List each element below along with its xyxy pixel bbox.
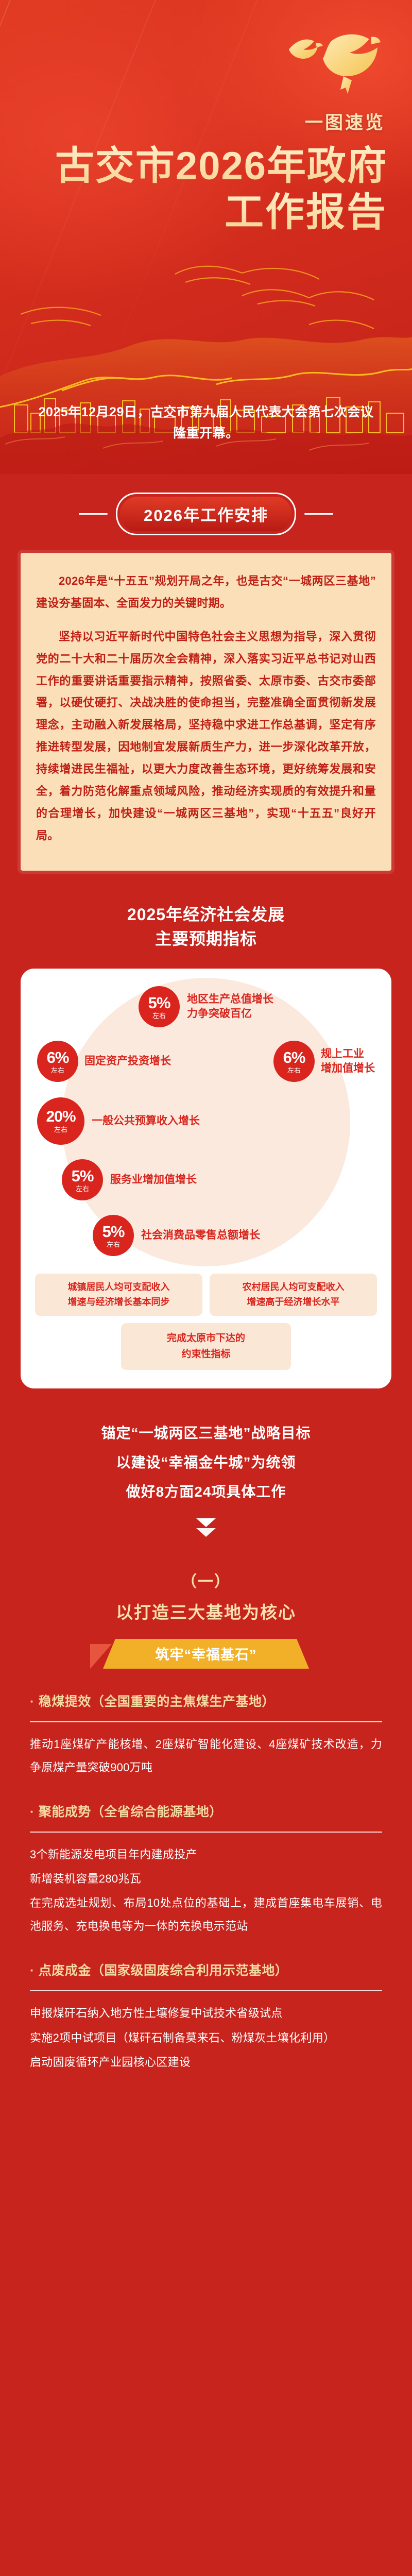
indicator-label: 服务业增加值增长 [110, 1173, 197, 1187]
indicator-item-investment: 6% 左右 固定资产投资增长 [37, 1041, 171, 1082]
block-body: 申报煤矸石纳入地方性土壤修复中试技术省级试点 实施2项中试项目（煤矸石制备莫来石… [30, 2002, 382, 2073]
binding-target-line2: 约束性指标 [126, 1346, 286, 1362]
hero-title-line1: 古交市2026年政府 [27, 145, 387, 188]
indicator-suffix: 左右 [54, 1126, 67, 1133]
indicator-item-gdp: 5% 左右 地区生产总值增长 力争突破百亿 [35, 986, 377, 1027]
indicator-list: 5% 左右 地区生产总值增长 力争突破百亿 6% 左右 固定资产投资增长 [35, 986, 377, 1256]
indicator-value: 6% [47, 1049, 69, 1065]
hero-banner: 一图速览 古交市2026年政府 工作报告 [0, 0, 412, 474]
rule-right [304, 513, 333, 515]
indicator-label-line2: 力争突破百亿 [187, 1007, 273, 1021]
hero-date: 2025年12月29日，古交市第九届人民代表大会第七次会议隆重开幕。 [0, 402, 412, 445]
indicator-badge: 6% 左右 [273, 1041, 315, 1082]
indicators-heading: 2025年经济社会发展 主要预期指标 [0, 903, 412, 952]
indicator-label-line1: 地区生产总值增长 [187, 992, 273, 1007]
indicator-item-budget: 20% 左右 一般公共预算收入增长 [35, 1097, 377, 1145]
block-heading: · 稳煤提效（全国重要的主焦煤生产基地） [30, 1691, 382, 1710]
indicator-value: 6% [283, 1049, 305, 1065]
indicator-suffix: 左右 [51, 1067, 64, 1074]
chevron-down-icon [196, 1518, 216, 1527]
block-heading: · 聚能成势（全省综合能源基地） [30, 1802, 382, 1820]
content-block-coal: · 稳煤提效（全国重要的主焦煤生产基地） 推动1座煤矿产能核增、2座煤矿智能化建… [30, 1691, 382, 1779]
indicator-label: 规上工业 增加值增长 [321, 1047, 375, 1076]
binding-target-box: 完成太原市下达的 约束性指标 [121, 1323, 291, 1370]
income-boxes: 城镇居民人均可支配收入 增速与经济增长基本同步 农村居民人均可支配收入 增速高于… [35, 1274, 377, 1316]
strategy-line2: 以建设“幸福金牛城”为统领 [0, 1448, 412, 1477]
indicator-badge: 5% 左右 [139, 986, 180, 1027]
indicator-row-pair: 6% 左右 固定资产投资增长 6% 左右 规上工业 增加值增长 [35, 1041, 377, 1082]
part-title: 以打造三大基地为核心 [0, 1599, 412, 1623]
hero-title-line2: 工作报告 [27, 192, 387, 234]
overview-paragraph-2: 坚持以习近平新时代中国特色社会主义思想为指导，深入贯彻党的二十大和二十届历次全会… [36, 626, 376, 847]
block-body: 3个新能源发电项目年内建成投产 新增装机容量280兆瓦 在完成选址规划、布局10… [30, 1843, 382, 1938]
divider [30, 1721, 382, 1722]
indicator-item-services: 5% 左右 服务业增加值增长 [35, 1159, 377, 1200]
indicator-badge: 5% 左右 [93, 1215, 134, 1256]
indicator-label: 地区生产总值增长 力争突破百亿 [187, 992, 273, 1022]
indicator-suffix: 左右 [76, 1185, 89, 1192]
dove-icon [286, 32, 384, 99]
hero-eyebrow: 一图速览 [305, 108, 385, 134]
block-body-line: 启动固废循环产业园核心区建设 [30, 2050, 382, 2074]
indicator-suffix: 左右 [107, 1241, 120, 1248]
ribbon-banner: 筑牢“幸福基石” [0, 1639, 412, 1669]
rule-left [79, 513, 108, 515]
overview-paragraph-1: 2026年是“十五五”规划开局之年，也是古交“一城两区三基地”建设夯基固本、全面… [36, 570, 376, 615]
chevron-down-icon [196, 1528, 216, 1537]
indicator-label: 一般公共预算收入增长 [92, 1114, 200, 1128]
indicator-suffix: 左右 [152, 1012, 166, 1019]
binding-target-line1: 完成太原市下达的 [126, 1330, 286, 1346]
content-block-waste: · 点废成金（国家级固废综合利用示范基地） 申报煤矸石纳入地方性土壤修复中试技术… [30, 1960, 382, 2073]
indicator-label-line2: 增加值增长 [321, 1061, 375, 1076]
indicator-suffix: 左右 [287, 1067, 301, 1074]
bottom-spacer [0, 2074, 412, 2115]
ribbon-label: 筑牢“幸福基石” [103, 1639, 309, 1669]
block-body-line: 申报煤矸石纳入地方性土壤修复中试技术省级试点 [30, 2002, 382, 2025]
income-box-line1: 农村居民人均可支配收入 [215, 1280, 372, 1295]
block-body-line: 实施2项中试项目（煤矸石制备莫来石、粉煤灰土壤化利用） [30, 2026, 382, 2049]
indicator-badge: 6% 左右 [37, 1041, 78, 1082]
indicator-item-retail: 5% 左右 社会消费品零售总额增长 [35, 1215, 377, 1256]
income-box-urban: 城镇居民人均可支配收入 增速与经济增长基本同步 [35, 1274, 202, 1316]
indicator-badge: 5% 左右 [62, 1159, 103, 1200]
indicator-value: 5% [72, 1168, 94, 1184]
section-header: 2026年工作安排 [0, 493, 412, 535]
block-body-line: 3个新能源发电项目年内建成投产 [30, 1843, 382, 1866]
strategy-line3: 做好8方面24项具体工作 [0, 1477, 412, 1506]
indicator-item-industry: 6% 左右 规上工业 增加值增长 [273, 1041, 375, 1082]
income-box-line2: 增速与经济增长基本同步 [40, 1295, 197, 1310]
indicator-value: 5% [102, 1224, 125, 1240]
indicators-card: 5% 左右 地区生产总值增长 力争突破百亿 6% 左右 固定资产投资增长 [21, 969, 391, 1388]
divider [30, 1832, 382, 1833]
block-body-line: 在完成选址规划、布局10处点位的基础上，建成首座集电车展销、电池服务、充电换电等… [30, 1891, 382, 1938]
section-pill: 2026年工作安排 [116, 493, 296, 535]
overview-card: 2026年是“十五五”规划开局之年，也是古交“一城两区三基地”建设夯基固本、全面… [21, 553, 391, 871]
block-body-line: 新增装机容量280兆瓦 [30, 1867, 382, 1890]
block-body: 推动1座煤矿产能核增、2座煤矿智能化建设、4座煤矿技术改造，力争原煤产量突破90… [30, 1733, 382, 1779]
block-heading-text: 稳煤提效（全国重要的主焦煤生产基地） [39, 1691, 275, 1710]
indicator-value: 5% [148, 995, 170, 1011]
bullet-dot-icon: · [30, 1696, 35, 1708]
chevron-down-icon [196, 1518, 216, 1537]
income-box-line1: 城镇居民人均可支配收入 [40, 1280, 197, 1295]
income-box-line2: 增速高于经济增长水平 [215, 1295, 372, 1310]
block-heading-text: 点废成金（国家级固废综合利用示范基地） [39, 1960, 288, 1979]
indicators-heading-line2: 主要预期指标 [0, 927, 412, 951]
report-page: 一图速览 古交市2026年政府 工作报告 [0, 0, 412, 2576]
part-number: （一） [0, 1569, 412, 1591]
strategy-statement: 锚定“一城两区三基地”战略目标 以建设“幸福金牛城”为统领 做好8方面24项具体… [0, 1418, 412, 1507]
block-heading-text: 聚能成势（全省综合能源基地） [39, 1802, 222, 1820]
block-body-line: 推动1座煤矿产能核增、2座煤矿智能化建设、4座煤矿技术改造，力争原煤产量突破90… [30, 1733, 382, 1779]
page-title: 古交市2026年政府 工作报告 [27, 145, 387, 234]
section-pill-label: 2026年工作安排 [120, 497, 292, 531]
strategy-line1: 锚定“一城两区三基地”战略目标 [0, 1418, 412, 1448]
indicators-heading-line1: 2025年经济社会发展 [0, 903, 412, 927]
block-heading: · 点废成金（国家级固废综合利用示范基地） [30, 1960, 382, 1979]
bullet-dot-icon: · [30, 1964, 35, 1977]
divider [30, 1990, 382, 1991]
indicator-badge: 20% 左右 [37, 1097, 84, 1145]
indicator-label: 固定资产投资增长 [84, 1054, 171, 1069]
income-box-rural: 农村居民人均可支配收入 增速高于经济增长水平 [210, 1274, 377, 1316]
indicator-value: 20% [46, 1109, 75, 1125]
indicator-label-line1: 规上工业 [321, 1047, 375, 1061]
bullet-dot-icon: · [30, 1806, 35, 1819]
indicator-label: 社会消费品零售总额增长 [141, 1228, 260, 1243]
content-block-energy: · 聚能成势（全省综合能源基地） 3个新能源发电项目年内建成投产 新增装机容量2… [30, 1802, 382, 1938]
